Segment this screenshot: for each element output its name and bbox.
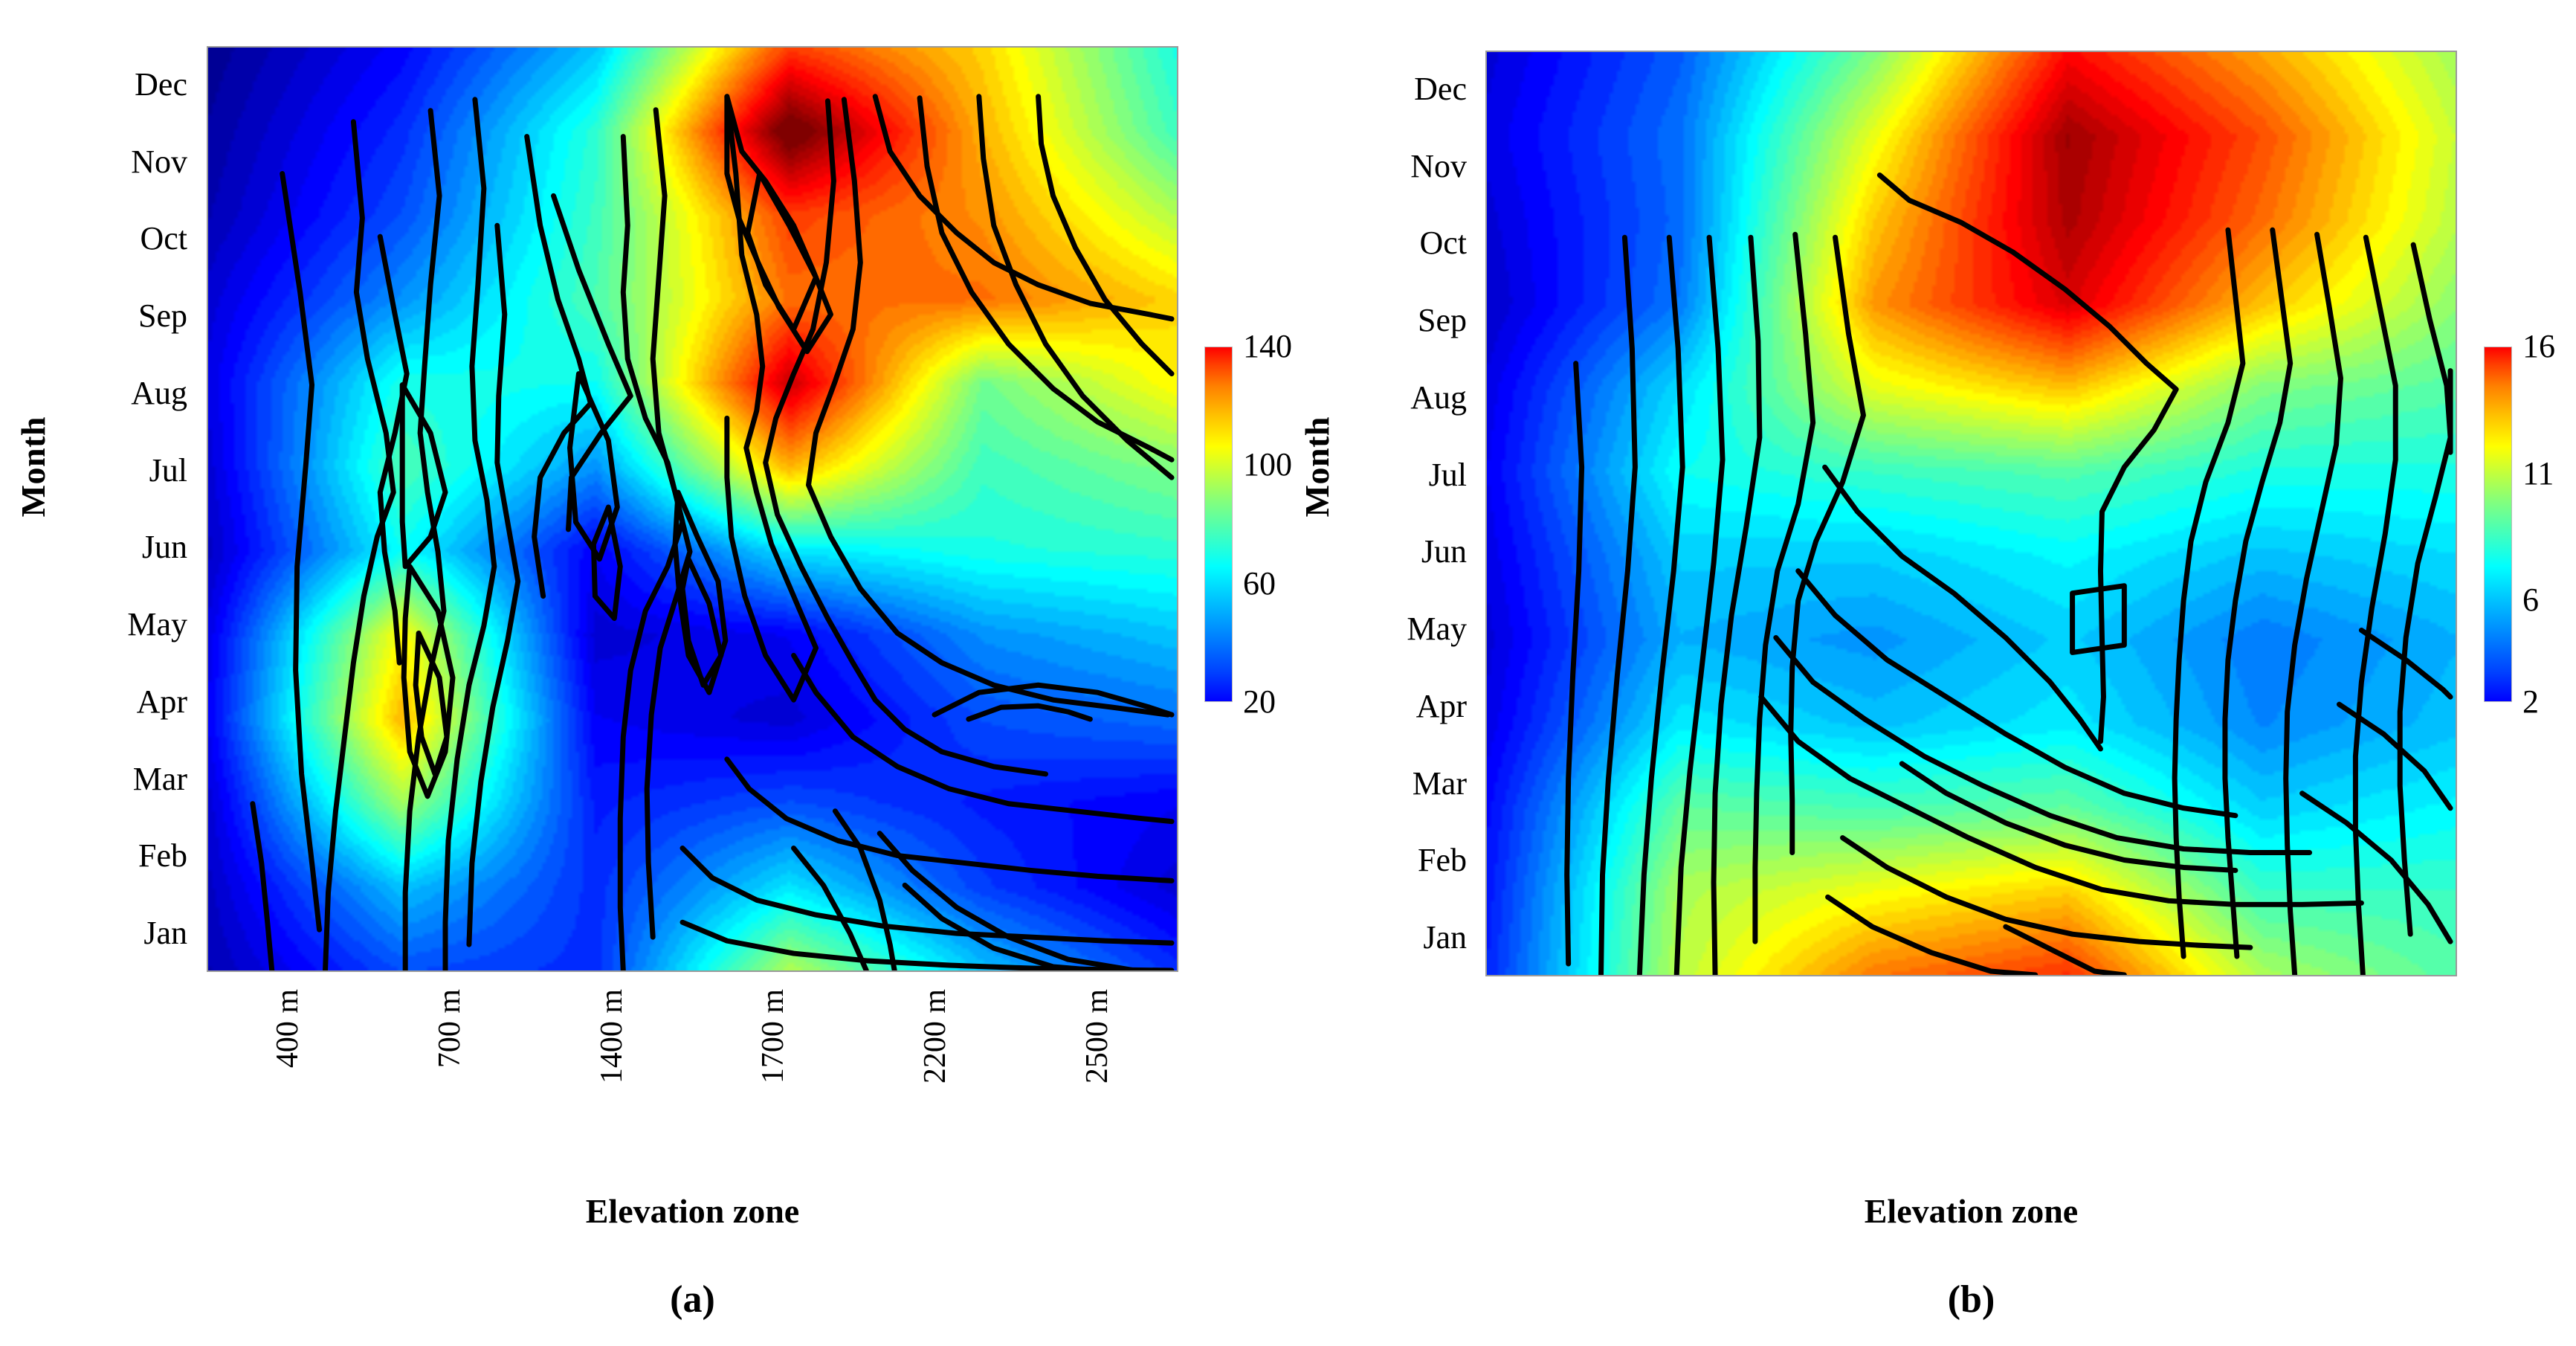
- colorbar-tick-label: 140: [1243, 330, 1292, 363]
- colorbar-tick-label: 6: [2522, 584, 2539, 616]
- y-tick-label: Feb: [1418, 844, 1467, 877]
- y-tick-label: Nov: [131, 146, 187, 178]
- y-tick-label: May: [1407, 613, 1467, 645]
- y-tick-label: Jul: [1429, 459, 1467, 492]
- colorbar-tick-label: 2: [2522, 686, 2539, 718]
- colorbar-tick-label: 20: [1243, 686, 1276, 718]
- y-tick-label: Dec: [135, 68, 187, 101]
- colorbar-gradient: [1204, 347, 1233, 702]
- plot-area-b[interactable]: [1485, 51, 2457, 976]
- y-tick-label: Dec: [1414, 73, 1467, 106]
- y-tick-label: May: [127, 608, 187, 641]
- panel-b: Month DecNovOctSepAugJulJunMayAprMarFebJ…: [1288, 0, 2576, 1346]
- y-tick-label: Aug: [131, 377, 187, 410]
- x-tick-label: 1700 m: [758, 989, 789, 1083]
- contour-lines-b: [1487, 52, 2456, 975]
- y-tick-label: Jan: [143, 917, 187, 950]
- y-tick-label: Apr: [1416, 690, 1467, 723]
- panel-a: Month DecNovOctSepAugJulJunMayAprMarFebJ…: [0, 0, 1288, 1346]
- colorbar-b: 261116: [2484, 347, 2576, 702]
- y-tick-label: Oct: [140, 222, 187, 255]
- colorbar-tick-label: 60: [1243, 567, 1276, 600]
- y-tick-label: Nov: [1410, 150, 1467, 183]
- y-tick-label: Jun: [1421, 535, 1467, 568]
- y-tick-label: Aug: [1410, 381, 1467, 414]
- y-tick-label: Sep: [1418, 304, 1467, 337]
- panel-label-b: (b): [1634, 1278, 2308, 1321]
- colorbar-tick-label: 16: [2522, 330, 2555, 363]
- figure-root: Month DecNovOctSepAugJulJunMayAprMarFebJ…: [0, 0, 2576, 1346]
- colorbar-gradient: [2484, 347, 2512, 702]
- colorbar-a: 2060100140: [1204, 347, 1301, 702]
- colorbar-tick-label: 11: [2522, 457, 2554, 490]
- y-tick-label: Jun: [142, 531, 187, 564]
- plot-area-a[interactable]: [207, 46, 1178, 972]
- colorbar-tick-label: 100: [1243, 448, 1292, 481]
- y-tick-labels-b: DecNovOctSepAugJulJunMayAprMarFebJan: [1288, 51, 1467, 976]
- y-tick-label: Mar: [133, 763, 187, 796]
- y-tick-label: Jan: [1423, 921, 1467, 954]
- x-tick-label: 1400 m: [596, 989, 627, 1083]
- contour-lines-a: [208, 48, 1177, 970]
- y-tick-label: Oct: [1419, 227, 1467, 260]
- x-axis-title-a: Elevation zone: [355, 1191, 1030, 1231]
- y-tick-label: Apr: [137, 686, 187, 718]
- panel-label-a: (a): [355, 1278, 1030, 1321]
- x-tick-label: 2500 m: [1082, 989, 1113, 1083]
- y-tick-label: Sep: [138, 300, 187, 332]
- x-tick-label: 700 m: [434, 989, 465, 1068]
- x-tick-label: 2200 m: [920, 989, 951, 1083]
- y-tick-label: Mar: [1413, 767, 1467, 800]
- y-tick-label: Feb: [138, 840, 187, 872]
- x-tick-label: 400 m: [272, 989, 303, 1068]
- y-tick-label: Jul: [149, 454, 187, 487]
- x-axis-title-b: Elevation zone: [1634, 1191, 2308, 1231]
- y-tick-labels-a: DecNovOctSepAugJulJunMayAprMarFebJan: [0, 46, 187, 972]
